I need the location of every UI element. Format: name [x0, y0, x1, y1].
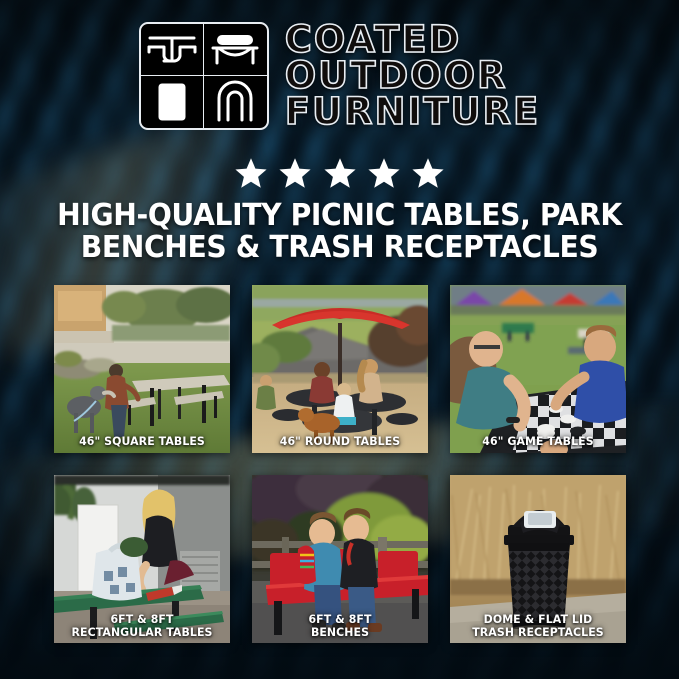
star-icon: [411, 156, 445, 190]
product-photo-game-tables: [450, 285, 626, 453]
product-caption: 6FT & 8FT RECTANGULAR TABLES: [58, 613, 225, 638]
picnic-table-icon: [141, 24, 204, 76]
brand-wordmark: COATED OUTDOOR FURNITURE: [285, 22, 541, 130]
bike-rack-icon: [204, 76, 267, 128]
product-photo-round-tables: [252, 285, 428, 453]
product-caption: DOME & FLAT LID TRASH RECEPTACLES: [454, 613, 621, 638]
product-caption: 6FT & 8FT BENCHES: [256, 613, 423, 638]
product-card-trash-receptacles[interactable]: DOME & FLAT LID TRASH RECEPTACLES: [450, 475, 626, 643]
brand-word-outdoor: OUTDOOR: [285, 58, 508, 94]
headline-line-2: BENCHES & TRASH RECEPTACLES: [20, 232, 658, 264]
product-caption: 46" SQUARE TABLES: [58, 435, 225, 447]
brand-word-furniture: FURNITURE: [285, 94, 541, 130]
trash-receptacle-icon: [141, 76, 204, 128]
brand-header: COATED OUTDOOR FURNITURE: [0, 22, 679, 130]
star-icon: [367, 156, 401, 190]
star-icon: [278, 156, 312, 190]
product-card-benches[interactable]: 6FT & 8FT BENCHES: [252, 475, 428, 643]
brand-logo-mark: [139, 22, 269, 130]
product-card-round-tables[interactable]: 46" ROUND TABLES: [252, 285, 428, 453]
promo-banner: COATED OUTDOOR FURNITURE HIGH-QUALITY PI…: [0, 0, 679, 679]
product-caption: 46" GAME TABLES: [454, 435, 621, 447]
park-bench-icon: [204, 24, 267, 76]
product-card-game-tables[interactable]: 46" GAME TABLES: [450, 285, 626, 453]
product-card-rectangular-tables[interactable]: 6FT & 8FT RECTANGULAR TABLES: [54, 475, 230, 643]
product-card-square-tables[interactable]: 46" SQUARE TABLES: [54, 285, 230, 453]
star-icon: [323, 156, 357, 190]
product-photo-square-tables: [54, 285, 230, 453]
logo-row: COATED OUTDOOR FURNITURE: [0, 22, 679, 130]
brand-word-coated: COATED: [285, 22, 462, 58]
star-rating: [0, 156, 679, 190]
page-title: HIGH-QUALITY PICNIC TABLES, PARK BENCHES…: [20, 200, 658, 265]
product-grid: 46" SQUARE TABLES: [54, 285, 626, 643]
headline-line-1: HIGH-QUALITY PICNIC TABLES, PARK: [57, 198, 622, 233]
product-caption: 46" ROUND TABLES: [256, 435, 423, 447]
star-icon: [234, 156, 268, 190]
